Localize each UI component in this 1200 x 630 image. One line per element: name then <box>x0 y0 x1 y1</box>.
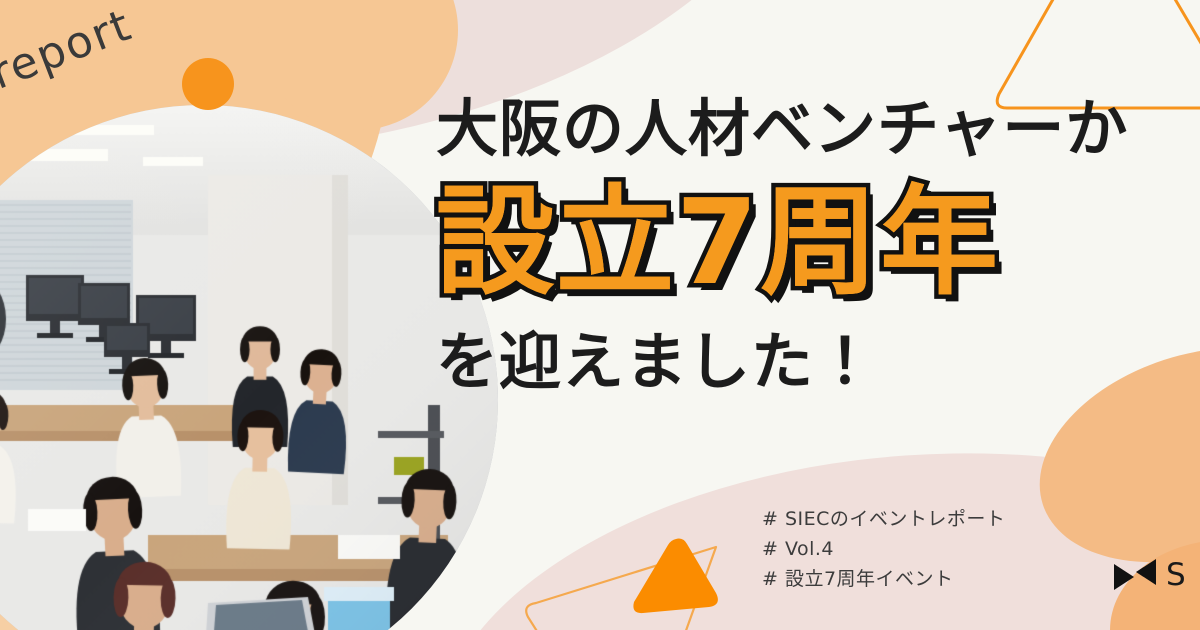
orange-dot-accent <box>182 58 234 110</box>
hashtag-item: # Vol.4 <box>762 534 1005 564</box>
headline-emphasis-fill: 設立7周年 <box>436 183 1000 301</box>
hashtag-item: # SIECのイベントレポート <box>762 504 1005 534</box>
hashtag-list: # SIECのイベントレポート # Vol.4 # 設立7周年イベント <box>762 504 1005 594</box>
peach-circle-small-shape <box>352 72 378 98</box>
triangle-solid-bottom-icon <box>630 535 722 617</box>
headline-line-bottom: を迎えました！ <box>436 329 1200 394</box>
hashtag-item: # 設立7周年イベント <box>762 564 1005 594</box>
headline-block: 大阪の人材ベンチャーか 設立7周年 設立7周年 を迎えました！ <box>436 96 1200 394</box>
brand-logo-text: S <box>1166 560 1186 591</box>
headline-line-top: 大阪の人材ベンチャーか <box>436 96 1200 161</box>
headline-emphasis-wrap: 設立7周年 設立7周年 <box>436 183 1200 301</box>
brand-logo: S <box>1112 557 1186 593</box>
peach-circle-large-shape <box>258 0 458 130</box>
double-triangle-mark-icon <box>1112 557 1158 593</box>
event-photo-canvas <box>0 105 498 630</box>
event-photo <box>0 105 498 630</box>
poster-canvas: report 大阪の人材ベンチャーか 設立7周年 設立7周年 を迎えました！ #… <box>0 0 1200 630</box>
headline-emphasis-stack: 設立7周年 設立7周年 <box>436 183 1000 301</box>
